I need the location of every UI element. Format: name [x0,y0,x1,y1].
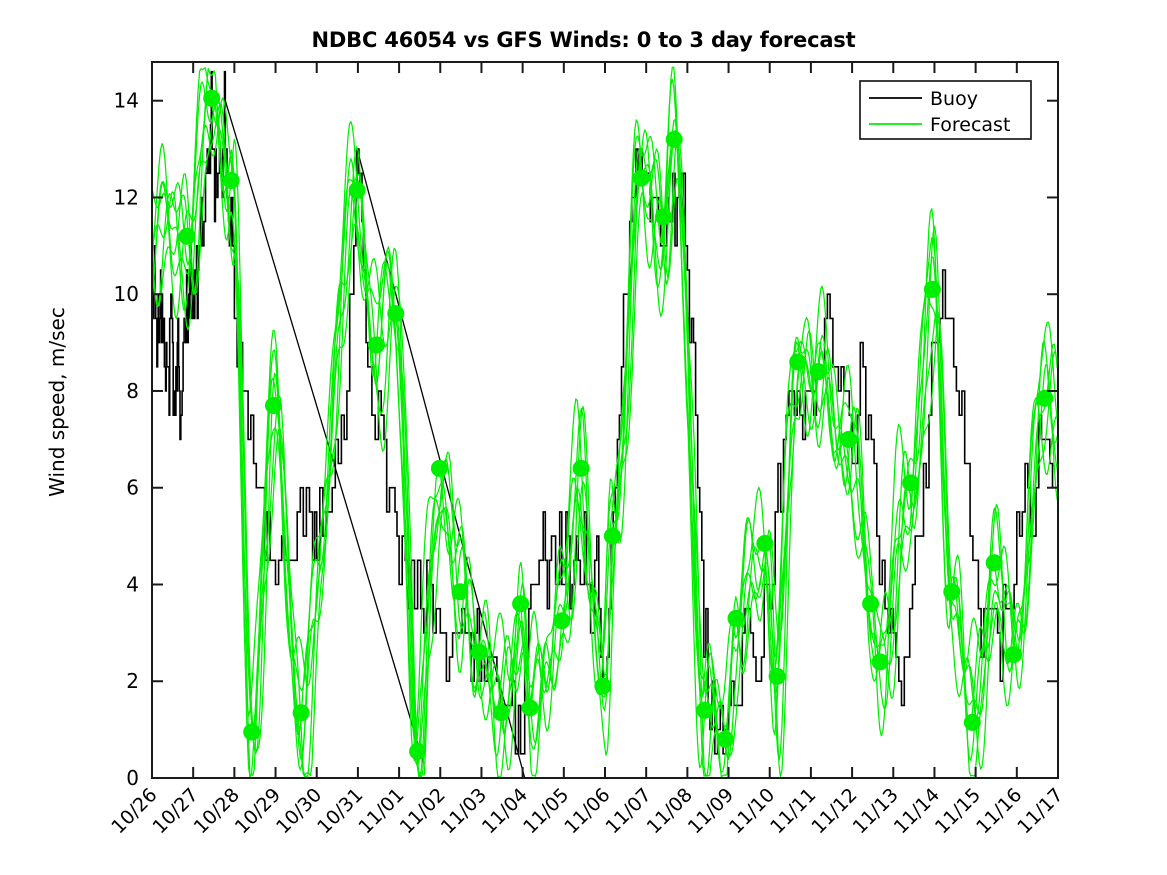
x-tick-label: 11/12 [807,784,861,838]
y-axis-label: Wind speed, m/sec [45,92,69,712]
x-tick-label: 11/15 [931,784,985,838]
y-tick-label: 14 [114,89,139,113]
y-tick-label: 12 [114,185,139,209]
forecast-marker [717,731,733,747]
forecast-marker [388,306,404,322]
x-tick-label: 11/09 [684,784,738,838]
forecast-marker [513,596,529,612]
forecast-marker [471,644,487,660]
forecast-marker [595,678,611,694]
legend-label-buoy: Buoy [930,88,978,110]
chart-plot: 02468101214 10/2610/2710/2810/2910/3010/… [0,0,1167,875]
x-tick-label: 10/29 [231,784,285,838]
x-tick-label: 11/02 [396,784,450,838]
x-tick-label: 11/04 [478,784,532,838]
forecast-marker [410,743,426,759]
forecast-marker [666,131,682,147]
forecast-marker [810,364,826,380]
x-tick-label: 11/11 [766,784,820,838]
forecast-marker [872,654,888,670]
x-tick-label: 11/17 [1013,784,1067,838]
forecast-marker [757,535,773,551]
forecast-marker [573,460,589,476]
x-tick-label: 11/14 [890,784,944,838]
x-tick-label: 11/06 [560,784,614,838]
x-tick-label: 11/10 [725,784,779,838]
forecast-marker [790,354,806,370]
forecast-marker [493,705,509,721]
forecast-marker [431,460,447,476]
forecast-marker [522,700,538,716]
y-tick-label: 6 [126,476,139,500]
x-tick-label: 10/31 [313,784,367,838]
forecast-marker [452,584,468,600]
legend-label-forecast: Forecast [930,114,1010,136]
forecast-marker [986,555,1002,571]
forecast-marker [903,475,919,491]
y-tick-label: 8 [126,379,139,403]
x-tick-label: 11/16 [972,784,1026,838]
forecast-marker [179,228,195,244]
forecast-marker [633,170,649,186]
forecast-marker [656,209,672,225]
x-tick-label: 11/08 [643,784,697,838]
x-tick-label: 11/07 [601,784,655,838]
x-tick-label: 10/28 [190,784,244,838]
y-tick-label: 2 [126,669,139,693]
x-tick-label: 11/01 [354,784,408,838]
x-tick-label: 10/30 [272,784,326,838]
forecast-marker [863,596,879,612]
forecast-marker [964,714,980,730]
x-tick-label: 10/26 [107,784,161,838]
forecast-marker [204,90,220,106]
y-tick-label: 0 [126,766,139,790]
x-tick-label: 11/03 [437,784,491,838]
y-tick-label: 4 [126,572,139,596]
chart-legend[interactable]: BuoyForecast [860,81,1031,139]
figure-canvas: NDBC 46054 vs GFS Winds: 0 to 3 day fore… [0,0,1167,875]
forecast-marker [944,584,960,600]
forecast-marker [1006,647,1022,663]
forecast-marker [349,182,365,198]
forecast-marker [368,337,384,353]
page-title: NDBC 46054 vs GFS Winds: 0 to 3 day fore… [0,28,1167,52]
x-tick-label: 11/13 [849,784,903,838]
forecast-marker [604,528,620,544]
forecast-marker [1037,390,1053,406]
x-tick-label: 11/05 [519,784,573,838]
y-tick-label: 10 [114,282,139,306]
forecast-marker [697,702,713,718]
forecast-marker [769,668,785,684]
forecast-marker [924,281,940,297]
forecast-marker [223,173,239,189]
x-tick-label: 10/27 [148,784,202,838]
forecast-series [152,67,1057,778]
forecast-marker [728,610,744,626]
forecast-marker [244,724,260,740]
forecast-marker [293,705,309,721]
forecast-marker [841,431,857,447]
forecast-marker [266,398,282,414]
forecast-marker [554,613,570,629]
